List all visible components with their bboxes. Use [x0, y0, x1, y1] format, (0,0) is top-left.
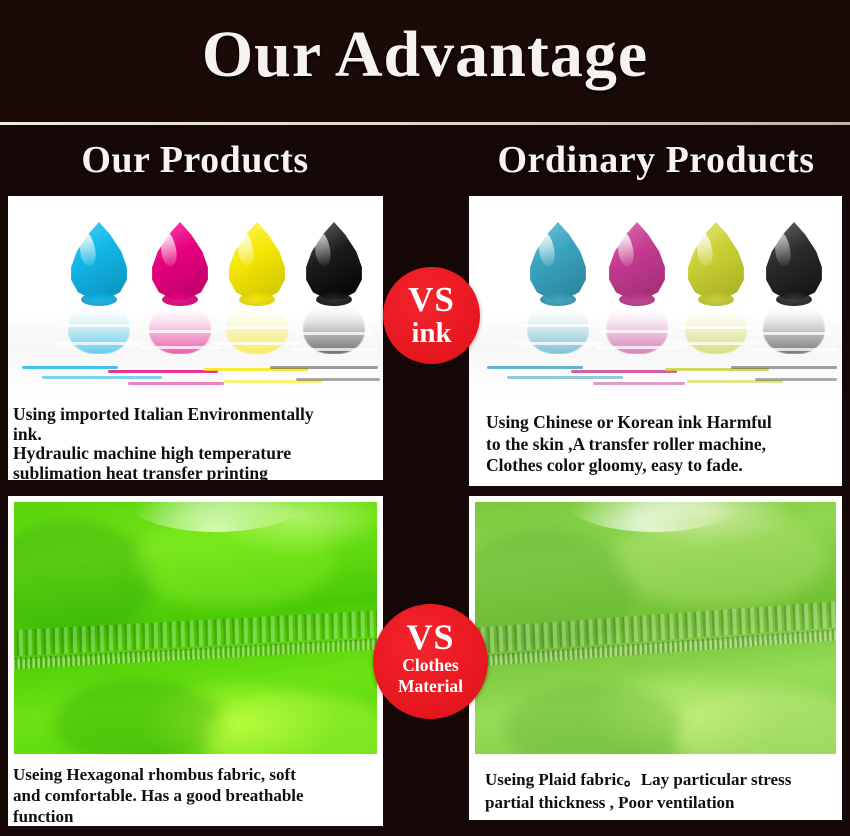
ink-droplets-image-ordinary: [469, 196, 842, 401]
vs-badge-ink: VS ink: [383, 267, 480, 364]
vs-badge-clothes-sublabel-1: Clothes: [373, 655, 488, 676]
ink-drop-black: [763, 222, 825, 300]
ink-drop-black: [303, 222, 365, 300]
caption-fabric-our-products: Useing Hexagonal rhombus fabric, soft an…: [8, 762, 383, 826]
vs-badge-clothes-label: VS: [373, 604, 488, 655]
column-title-our-products: Our Products: [0, 134, 390, 186]
ink-reflection-cyan: [68, 302, 130, 354]
ink-drop-cyan: [68, 222, 130, 300]
vs-badge-clothes-material: VS Clothes Material: [373, 604, 488, 719]
ink-drop-magenta: [606, 222, 668, 300]
page-title: Our Advantage: [0, 12, 850, 98]
ink-reflection-cyan: [527, 302, 589, 354]
ink-drop-magenta: [149, 222, 211, 300]
fabric-image-ours: [14, 502, 377, 754]
caption-fabric-ordinary-products: Useing Plaid fabric。Lay particular stres…: [469, 762, 842, 820]
header-divider: [0, 122, 850, 125]
ink-droplets-image-ours: [8, 196, 383, 401]
vs-badge-ink-label: VS: [383, 267, 480, 317]
column-title-ordinary-products: Ordinary Products: [462, 134, 850, 186]
caption-ink-ordinary-products: Using Chinese or Korean ink Harmful to t…: [469, 408, 842, 486]
caption-ink-our-products: Using imported Italian Environmentally i…: [8, 402, 383, 480]
advantage-poster: Our Advantage Our Products Ordinary Prod…: [0, 0, 850, 836]
ink-drop-yellow: [226, 222, 288, 300]
ink-reflection-black: [763, 302, 825, 354]
ink-reflection-black: [303, 302, 365, 354]
ink-drop-yellow: [685, 222, 747, 300]
vs-badge-clothes-sublabel-2: Material: [373, 676, 488, 697]
fabric-image-ordinary: [475, 502, 836, 754]
ink-drop-cyan: [527, 222, 589, 300]
vs-badge-ink-sublabel: ink: [383, 317, 480, 349]
